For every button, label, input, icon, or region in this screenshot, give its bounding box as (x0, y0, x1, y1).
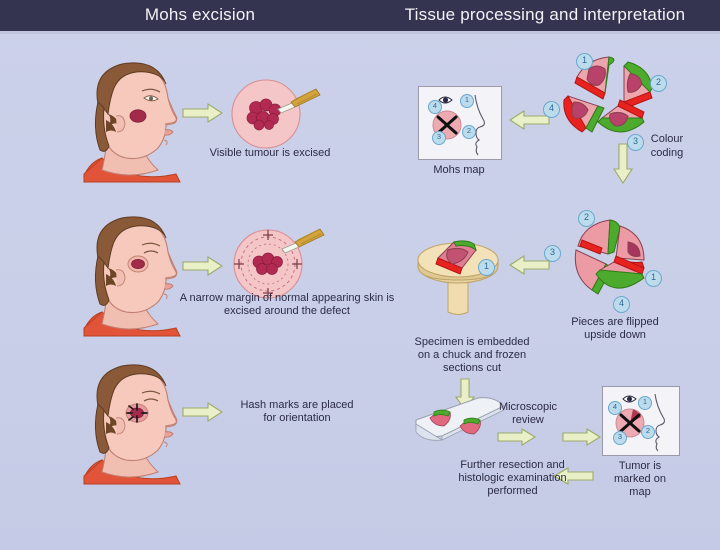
arrow-step-1 (182, 103, 224, 123)
map-marker-2: 2 (462, 125, 476, 139)
diagram-canvas: Mohs excision Tissue processing and inte… (0, 0, 720, 550)
arrow-down-colour-coding (613, 143, 633, 185)
patient-head-row2 (72, 212, 192, 337)
label-colour-coding-line1: Colour (636, 133, 698, 146)
label-microscopic-review-line2: review (488, 414, 568, 427)
caption-step-1: Visible tumour is excised (180, 147, 360, 160)
colour-piece-4: 4 (543, 101, 560, 118)
caption-step-2-line2: excised around the defect (172, 305, 402, 318)
colour-piece-2: 2 (650, 75, 667, 92)
arrow-to-chuck (508, 255, 550, 275)
label-further-resection-line2: histologic examination (430, 472, 595, 485)
flipped-piece-2: 2 (578, 210, 595, 227)
chuck-piece-1: 1 (478, 259, 495, 276)
caption-chuck-line2: on a chuck and frozen (392, 349, 552, 362)
eye-icon-shape (439, 97, 452, 103)
eye-icon-shape (623, 396, 636, 402)
label-further-resection-line3: performed (430, 485, 595, 498)
flipped-piece-4: 4 (613, 296, 630, 313)
label-further-resection-line1: Further resection and (430, 459, 595, 472)
header-title-right: Tissue processing and interpretation (370, 5, 720, 25)
arrow-step-2 (182, 256, 224, 276)
patient-head-row1 (72, 58, 192, 183)
patient-head-row3 (72, 360, 192, 485)
flipped-pieces-illustration (558, 212, 668, 312)
label-colour-coding-line2: coding (636, 147, 698, 160)
label-microscopic-review-line1: Microscopic (488, 401, 568, 414)
label-tumor-marked-line2: marked on (600, 473, 680, 486)
tumor-map-marker-4: 4 (608, 401, 622, 415)
map-marker-3: 3 (432, 131, 446, 145)
caption-chuck-line1: Specimen is embedded (392, 336, 552, 349)
map-marker-1: 1 (460, 94, 474, 108)
label-tumor-marked-line1: Tumor is (600, 460, 680, 473)
arrow-to-tumor-map (562, 428, 602, 446)
caption-step-3-line2: for orientation (212, 412, 382, 425)
margin-excision-illustration (226, 222, 338, 302)
caption-mohs-map: Mohs map (418, 164, 500, 177)
map-marker-4: 4 (428, 100, 442, 114)
flipped-piece-1: 1 (645, 270, 662, 287)
header-bar: Mohs excision Tissue processing and inte… (0, 0, 720, 31)
caption-step-3-line1: Hash marks are placed (212, 399, 382, 412)
lesion-excision-illustration (226, 78, 336, 150)
caption-step-2-line1: A narrow margin of normal appearing skin… (172, 292, 402, 305)
arrow-microscopic-review (497, 428, 537, 446)
tumor-map-marker-3: 3 (613, 431, 627, 445)
caption-flipped-line1: Pieces are flipped (545, 316, 685, 329)
tumor-map-marker-1: 1 (638, 396, 652, 410)
header-shadow (0, 31, 720, 34)
tumor-map-marker-2: 2 (641, 425, 655, 439)
label-tumor-marked-line3: map (600, 486, 680, 499)
colour-piece-1: 1 (576, 53, 593, 70)
caption-flipped-line2: upside down (545, 329, 685, 342)
header-title-left: Mohs excision (0, 5, 400, 25)
caption-chuck-line3: sections cut (392, 362, 552, 375)
